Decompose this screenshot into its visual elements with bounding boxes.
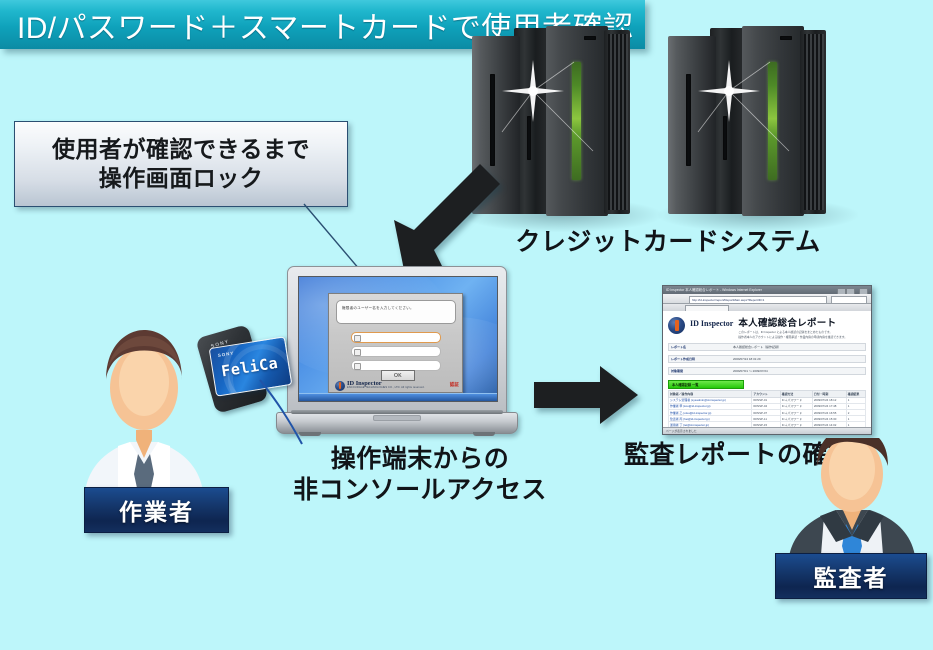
callout-text: 使用者が確認できるまで 操作画面ロック	[52, 135, 310, 192]
dialog-ok-label: OK	[394, 373, 402, 379]
dialog-password-input[interactable]	[351, 346, 441, 357]
report-brand-name: ID Inspector	[690, 319, 733, 328]
laptop-foot	[473, 432, 495, 436]
sparkle-icon	[498, 56, 608, 166]
report-window-title: ID Inspector 本人確認総合レポート - Windows Intern…	[666, 287, 762, 292]
screen-lock-callout: 使用者が確認できるまで 操作画面ロック	[14, 121, 348, 207]
dialog-userid-input[interactable]	[351, 332, 441, 343]
report-meta-row: レポート作成日時 2009/07/24 18:31:29	[668, 355, 866, 363]
section-heading-label: 本人確認記録 一覧	[672, 382, 698, 387]
meta-key: 対象期間	[671, 369, 683, 373]
address-input[interactable]: http://id-inspector/report/ReportMain.as…	[689, 296, 827, 304]
lock-icon	[354, 349, 361, 356]
callout-line-1: 使用者が確認できるまで	[52, 135, 310, 164]
laptop-lid: 権限者のユーザー名を入力してください。 OK	[287, 266, 507, 416]
worker-role-badge: 作業者	[84, 487, 229, 533]
report-statusbar: ページが表示されました	[663, 427, 871, 434]
worker-role-label: 作業者	[119, 493, 194, 527]
card-to-laptop-cable	[258, 378, 318, 448]
card-icon	[354, 363, 361, 370]
callout-line-2: 操作画面ロック	[52, 164, 310, 193]
laptop-touchpad	[373, 415, 421, 421]
dialog-brand-sub: ENCOURAGE TECHNOLOGIES CO., LTD. All rig…	[347, 387, 425, 390]
sparkle-icon	[694, 56, 804, 166]
credit-card-system-servers	[462, 16, 852, 226]
worker-avatar	[78, 322, 210, 504]
meta-key: レポート作成日時	[671, 357, 695, 361]
arrow-to-report-icon	[534, 366, 638, 424]
caption-laptop-line-2: 非コンソールアクセス	[270, 475, 570, 506]
user-icon	[354, 335, 361, 342]
report-subtitle-2: 操作者本人のアカウントによる操作・権限承認・作業内容の申請内容を確認できます。	[738, 335, 866, 339]
meta-key: レポート名	[671, 345, 686, 349]
caption-laptop-line-1: 操作端末からの	[270, 444, 570, 475]
login-dialog: 権限者のユーザー名を入力してください。 OK	[328, 293, 463, 393]
caption-laptop: 操作端末からの 非コンソールアクセス	[270, 444, 570, 505]
dialog-message-box: 権限者のユーザー名を入力してください。	[336, 300, 456, 324]
search-input[interactable]	[831, 296, 867, 304]
dialog-corner-mark: 認証	[450, 382, 459, 388]
auditor-role-label: 監査者	[814, 559, 889, 593]
dialog-brand: ID Inspector ENCOURAGE TECHNOLOGIES CO.,…	[335, 380, 457, 391]
laptop-taskbar	[299, 393, 497, 401]
dialog-message-text: 権限者のユーザー名を入力してください。	[337, 301, 455, 312]
report-content: ID Inspector 本人確認総合レポート このレポートは、ID Inspe…	[663, 311, 871, 428]
report-table-records: 対象者／操作内容アカウント確認方法日付・時刻確認結果システム管理者 (sysad…	[668, 390, 866, 428]
report-header: ID Inspector 本人確認総合レポート このレポートは、ID Inspe…	[668, 315, 866, 339]
meta-value: 本人確認総合レポート（操作記録）	[733, 345, 781, 349]
meta-value: 2009/07/01 ～ 2009/07/24	[733, 369, 768, 373]
diagram-canvas: クレジットカードシステム 使用者が確認できるまで 操作画面ロック 権限者のユーザ…	[0, 0, 933, 650]
report-titlebar: ID Inspector 本人確認総合レポート - Windows Intern…	[663, 286, 871, 294]
auditor-role-badge: 監査者	[775, 553, 927, 599]
address-value: http://id-inspector/report/ReportMain.as…	[690, 297, 826, 303]
auditor-avatar	[784, 438, 920, 568]
caption-credit-card-system-text: クレジットカードシステム	[515, 228, 820, 256]
arrow-to-servers-icon	[388, 158, 508, 274]
report-meta-row: 対象期間 2009/07/01 ～ 2009/07/24	[668, 367, 866, 375]
status-text: ページが表示されました	[663, 428, 871, 434]
server-rack-right	[658, 16, 858, 216]
meta-value: 2009/07/24 18:31:29	[733, 357, 761, 361]
report-section-heading: 本人確認記録 一覧	[668, 380, 744, 389]
laptop-screen: 権限者のユーザー名を入力してください。 OK	[298, 276, 498, 402]
report-address-bar: http://id-inspector/report/ReportMain.as…	[663, 294, 871, 304]
id-inspector-logo-icon	[668, 317, 685, 334]
report-title: 本人確認総合レポート	[738, 315, 866, 329]
report-meta-row: レポート名 本人確認総合レポート（操作記録）	[668, 343, 866, 351]
report-subtitle-1: このレポートは、ID Inspector による本人確認の記録をまとめたものです…	[738, 330, 866, 334]
caption-credit-card-system: クレジットカードシステム	[503, 227, 833, 258]
audit-report-window[interactable]: ID Inspector 本人確認総合レポート - Windows Intern…	[662, 285, 872, 435]
id-inspector-logo-icon	[335, 381, 345, 391]
laptop-hinge	[291, 410, 503, 414]
